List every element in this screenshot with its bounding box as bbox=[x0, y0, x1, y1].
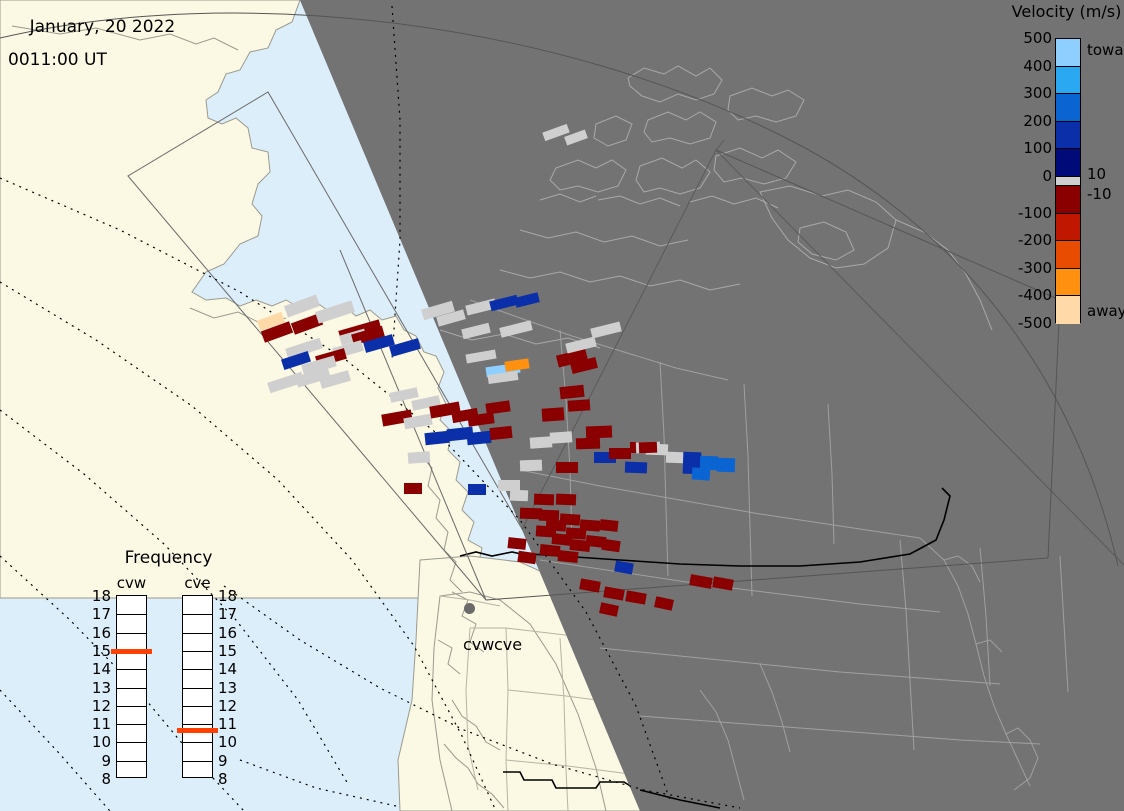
title-time: 0011:00 UT bbox=[8, 52, 175, 69]
frequency-gridline bbox=[117, 633, 146, 634]
radar-cell bbox=[559, 385, 584, 399]
radar-cell bbox=[639, 442, 657, 454]
frequency-gridline bbox=[183, 724, 212, 725]
radar-cell bbox=[408, 451, 431, 464]
radar-cell bbox=[542, 407, 565, 422]
radar-cell bbox=[599, 602, 619, 617]
colorbar-tick--500: -500 bbox=[1018, 314, 1052, 332]
radar-cell bbox=[576, 438, 600, 450]
radar-cell bbox=[520, 460, 542, 472]
radar-cell bbox=[517, 551, 536, 564]
colorbar-band-2 bbox=[1056, 94, 1080, 122]
colorbar-tick-100: 100 bbox=[1023, 139, 1052, 157]
radar-site-label-cve: cve bbox=[494, 635, 522, 654]
colorbar-negative-threshold-label: -10 bbox=[1087, 185, 1112, 203]
frequency-column-label-cvw: cvw bbox=[116, 574, 147, 592]
frequency-tick-cve-18: 18 bbox=[218, 587, 237, 605]
colorbar-band-9 bbox=[1056, 269, 1080, 297]
frequency-tick-cvw-16: 16 bbox=[92, 624, 111, 642]
radar-cell bbox=[534, 494, 554, 506]
colorbar-band-7 bbox=[1056, 214, 1080, 242]
radar-cell bbox=[530, 436, 553, 449]
radar-cell bbox=[586, 426, 612, 439]
frequency-tick-cve-14: 14 bbox=[218, 660, 237, 678]
frequency-gridline bbox=[183, 742, 212, 743]
frequency-tick-cvw-10: 10 bbox=[92, 733, 111, 751]
radar-cell bbox=[625, 462, 647, 474]
colorbar-tick-500: 500 bbox=[1023, 29, 1052, 47]
colorbar-positive-threshold-label: 10 bbox=[1087, 165, 1106, 183]
colorbar-band-1 bbox=[1056, 67, 1080, 95]
radar-cell bbox=[461, 323, 491, 339]
radar-cell bbox=[580, 519, 601, 531]
colorbar-band-3 bbox=[1056, 122, 1080, 150]
colorbar-band-8 bbox=[1056, 241, 1080, 269]
frequency-scale-cvw: 18171615141312111098 bbox=[116, 595, 147, 778]
colorbar-band-5 bbox=[1056, 177, 1080, 186]
page-title: January, 20 2022 0011:00 UT bbox=[8, 2, 175, 103]
frequency-gridline bbox=[183, 688, 212, 689]
frequency-tick-cve-11: 11 bbox=[218, 715, 237, 733]
frequency-tick-cve-9: 9 bbox=[218, 752, 228, 770]
frequency-gridline bbox=[183, 633, 212, 634]
velocity-colorbar: Velocity (m/s) 5004003002001000-100-200-… bbox=[1009, 0, 1124, 340]
radar-cell bbox=[579, 578, 601, 592]
frequency-gridline bbox=[117, 669, 146, 670]
radar-cell bbox=[568, 399, 591, 412]
radar-cell bbox=[507, 537, 526, 550]
frequency-gridline bbox=[117, 614, 146, 615]
radar-cell bbox=[601, 539, 620, 552]
radar-cell bbox=[609, 448, 631, 459]
frequency-tick-cvw-11: 11 bbox=[92, 715, 111, 733]
radar-cell bbox=[599, 519, 618, 532]
radar-cell bbox=[590, 322, 622, 339]
radar-cell bbox=[466, 431, 491, 445]
frequency-gridline bbox=[117, 688, 146, 689]
radar-cell bbox=[556, 462, 578, 473]
colorbar-tick-0: 0 bbox=[1042, 167, 1052, 185]
frequency-column-cvw: cvw 18171615141312111098 bbox=[116, 595, 147, 778]
colorbar-tick-400: 400 bbox=[1023, 57, 1052, 75]
radar-cell bbox=[712, 576, 734, 590]
colorbar-tick--100: -100 bbox=[1018, 204, 1052, 222]
colorbar-tick--300: -300 bbox=[1018, 259, 1052, 277]
frequency-tick-cvw-9: 9 bbox=[101, 752, 111, 770]
frequency-legend: Frequency cvw 18171615141312111098 cve 1… bbox=[96, 548, 241, 796]
colorbar-band-0 bbox=[1056, 39, 1080, 67]
radar-cell bbox=[468, 484, 486, 495]
frequency-title: Frequency bbox=[96, 548, 241, 568]
radar-cell bbox=[267, 372, 305, 394]
colorbar-away-label: away bbox=[1087, 302, 1124, 320]
radar-cell bbox=[614, 561, 634, 575]
superdarn-map-view: January, 20 2022 0011:00 UT Velocity (m/… bbox=[0, 0, 1124, 811]
radar-cell bbox=[467, 412, 494, 427]
radar-cell bbox=[510, 490, 528, 502]
colorbar-tick-200: 200 bbox=[1023, 112, 1052, 130]
frequency-scale-cve: 18171615141312111098 bbox=[182, 595, 213, 778]
frequency-gridline bbox=[183, 614, 212, 615]
colorbar-toward-label: toward bbox=[1087, 41, 1124, 59]
radar-cell bbox=[485, 400, 510, 414]
radar-cell bbox=[550, 431, 573, 444]
radar-cell bbox=[499, 320, 532, 337]
radar-cell bbox=[424, 431, 449, 445]
frequency-marker-cve bbox=[177, 728, 218, 733]
frequency-column-label-cve: cve bbox=[182, 574, 213, 592]
colorbar-band-4 bbox=[1056, 149, 1080, 177]
frequency-tick-cvw-18: 18 bbox=[92, 587, 111, 605]
radar-cell bbox=[315, 300, 355, 323]
frequency-gridline bbox=[183, 669, 212, 670]
colorbar-band-10 bbox=[1056, 296, 1080, 324]
radar-site-marker bbox=[464, 603, 475, 614]
radar-cell bbox=[692, 467, 711, 480]
frequency-tick-cve-17: 17 bbox=[218, 605, 237, 623]
radar-cell bbox=[603, 586, 625, 600]
radar-cell bbox=[489, 426, 512, 440]
frequency-column-cve: cve 18171615141312111098 bbox=[182, 595, 213, 778]
radar-cell bbox=[625, 590, 647, 604]
colorbar-tick-300: 300 bbox=[1023, 84, 1052, 102]
radar-cell bbox=[504, 358, 529, 371]
colorbar-title: Velocity (m/s) bbox=[1009, 2, 1124, 21]
radar-cell bbox=[536, 525, 557, 537]
radar-cell bbox=[404, 483, 422, 494]
frequency-gridline bbox=[183, 706, 212, 707]
frequency-gridline bbox=[117, 706, 146, 707]
title-date: January, 20 2022 bbox=[30, 17, 176, 37]
frequency-gridline bbox=[183, 651, 212, 652]
colorbar-strip bbox=[1055, 38, 1081, 323]
radar-cell bbox=[717, 458, 735, 473]
frequency-tick-cve-10: 10 bbox=[218, 733, 237, 751]
radar-cell bbox=[654, 596, 674, 611]
radar-cell bbox=[465, 349, 496, 363]
frequency-tick-cvw-14: 14 bbox=[92, 660, 111, 678]
colorbar-tick--400: -400 bbox=[1018, 286, 1052, 304]
radar-cell bbox=[557, 550, 578, 563]
radar-cell bbox=[689, 574, 713, 589]
frequency-tick-cvw-12: 12 bbox=[92, 697, 111, 715]
frequency-tick-cve-12: 12 bbox=[218, 697, 237, 715]
frequency-tick-cve-13: 13 bbox=[218, 679, 237, 697]
frequency-marker-cvw bbox=[111, 649, 152, 654]
frequency-tick-cve-15: 15 bbox=[218, 642, 237, 660]
radar-cell bbox=[514, 292, 540, 308]
frequency-gridline bbox=[117, 761, 146, 762]
frequency-tick-cvw-17: 17 bbox=[92, 605, 111, 623]
colorbar-band-6 bbox=[1056, 186, 1080, 214]
radar-cell bbox=[560, 513, 581, 525]
radar-cell bbox=[556, 494, 576, 506]
frequency-tick-cvw-15: 15 bbox=[92, 642, 111, 660]
colorbar-tick--200: -200 bbox=[1018, 231, 1052, 249]
frequency-gridline bbox=[183, 761, 212, 762]
frequency-gridline bbox=[117, 724, 146, 725]
frequency-tick-cve-16: 16 bbox=[218, 624, 237, 642]
frequency-tick-cve-8: 8 bbox=[218, 770, 228, 788]
frequency-tick-cvw-8: 8 bbox=[101, 770, 111, 788]
radar-site-label-cvw: cvw bbox=[463, 635, 494, 654]
frequency-tick-cvw-13: 13 bbox=[92, 679, 111, 697]
frequency-gridline bbox=[117, 742, 146, 743]
